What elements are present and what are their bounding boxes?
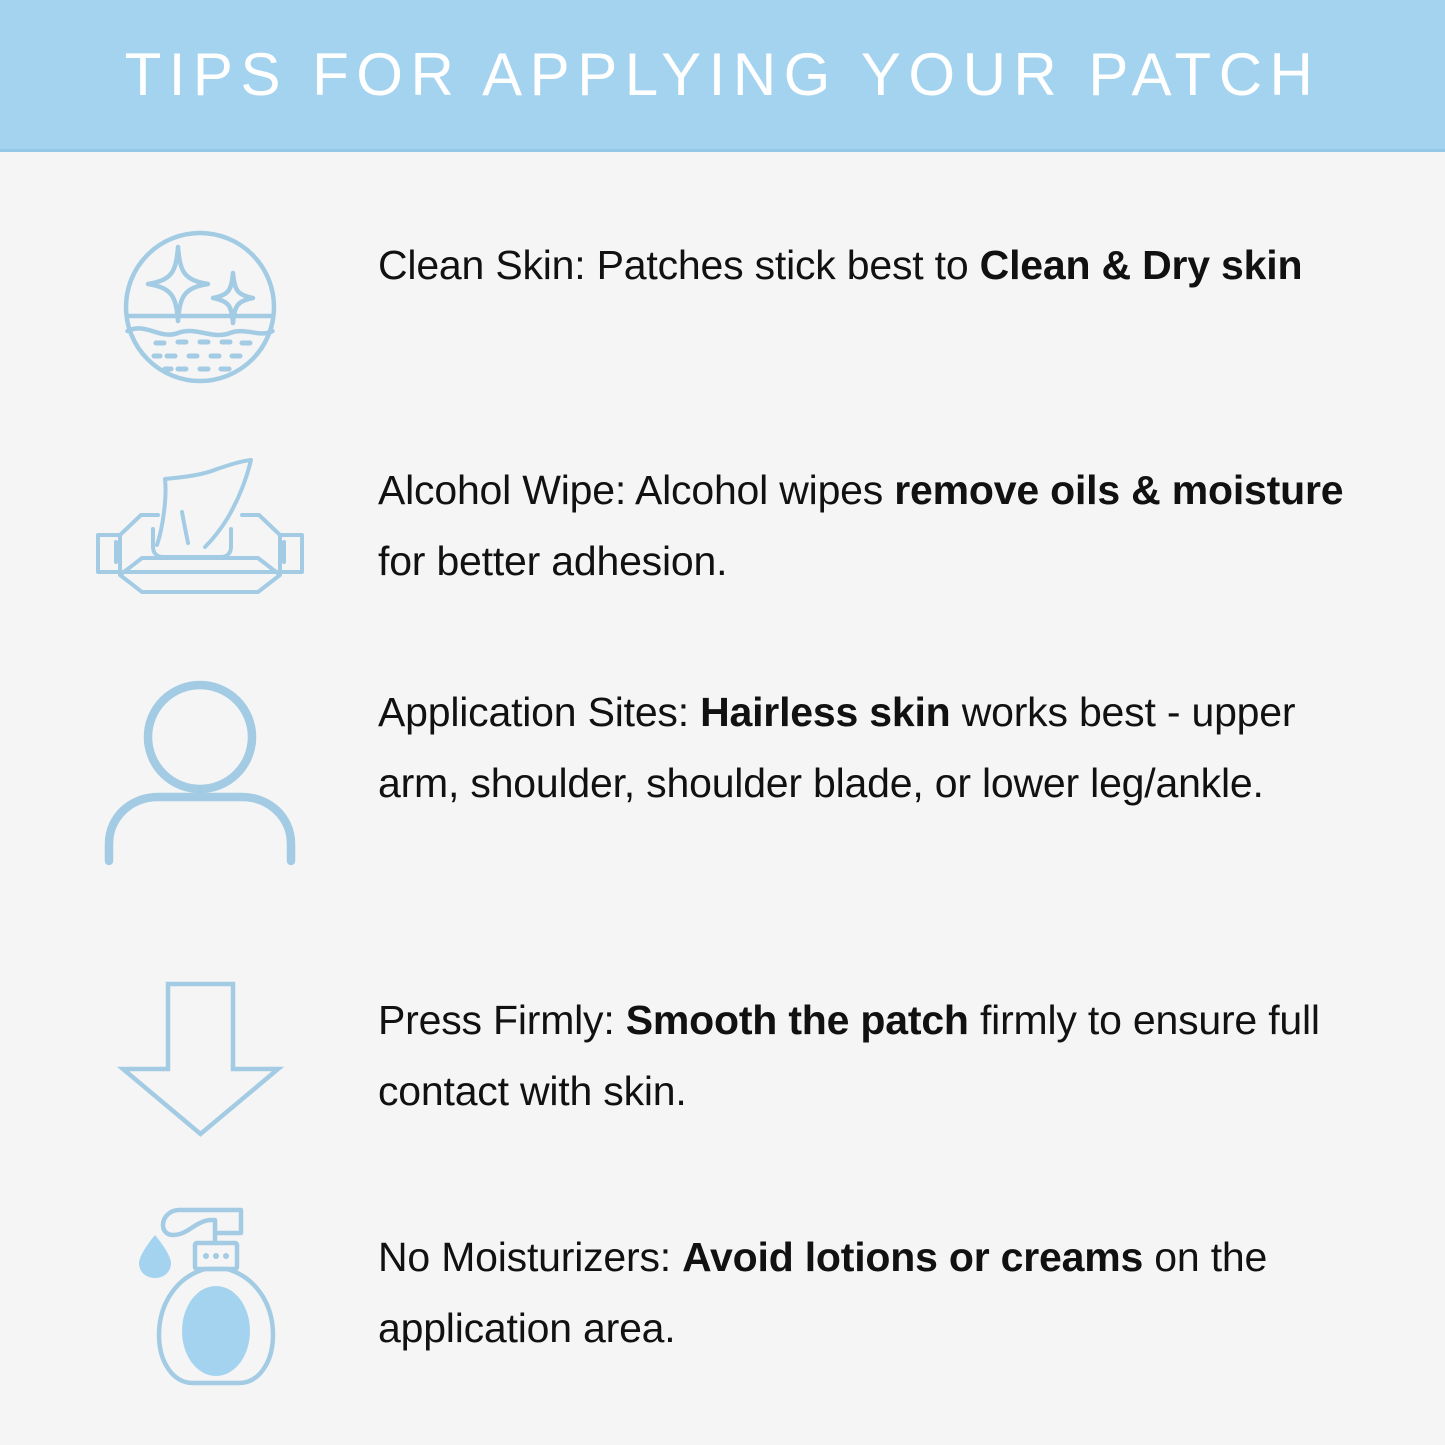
infographic-page: TIPS FOR APPLYING YOUR PATCH (0, 0, 1445, 1445)
tip-emphasis-text: remove oils & moisture (894, 467, 1343, 513)
tip-lead-text: Alcohol Wipe: Alcohol wipes (378, 467, 894, 513)
tip-text-press-firmly: Press Firmly: Smooth the patch firmly to… (378, 985, 1328, 1126)
down-arrow-icon (118, 979, 283, 1139)
tip-lead-text: Application Sites: (378, 689, 700, 735)
tip-lead-text: Clean Skin: Patches stick best to (378, 242, 980, 288)
tip-emphasis-text: Hairless skin (700, 689, 950, 735)
alcohol-wipes-package-icon (95, 457, 305, 602)
tips-list: Clean Skin: Patches stick best to Clean … (0, 152, 1445, 1445)
tip-item-press-firmly: Press Firmly: Smooth the patch firmly to… (0, 917, 1445, 1152)
tip-text-no-moisturizers: No Moisturizers: Avoid lotions or creams… (378, 1222, 1338, 1363)
tip-lead-text: No Moisturizers: (378, 1234, 682, 1280)
tip-text-clean-skin: Clean Skin: Patches stick best to Clean … (378, 230, 1338, 301)
tip-emphasis-text: Smooth the patch (626, 997, 969, 1043)
tip-item-alcohol-wipe: Alcohol Wipe: Alcohol wipes remove oils … (0, 392, 1445, 617)
tip-lead-text: Press Firmly: (378, 997, 626, 1043)
tip-text-application-sites: Application Sites: Hairless skin works b… (378, 677, 1378, 818)
clean-skin-sparkle-circle-icon (120, 230, 280, 385)
tip-item-no-moisturizers: No Moisturizers: Avoid lotions or creams… (0, 1152, 1445, 1392)
tip-emphasis-text: Clean & Dry skin (980, 242, 1303, 288)
tip-tail-text: for better adhesion. (378, 538, 727, 584)
header-banner: TIPS FOR APPLYING YOUR PATCH (0, 0, 1445, 152)
person-body-icon (103, 679, 298, 864)
lotion-pump-bottle-icon (133, 1207, 283, 1392)
tip-emphasis-text: Avoid lotions or creams (682, 1234, 1143, 1280)
page-title: TIPS FOR APPLYING YOUR PATCH (125, 45, 1321, 105)
tip-item-clean-skin: Clean Skin: Patches stick best to Clean … (0, 152, 1445, 392)
tip-item-application-sites: Application Sites: Hairless skin works b… (0, 617, 1445, 917)
tip-text-alcohol-wipe: Alcohol Wipe: Alcohol wipes remove oils … (378, 455, 1378, 596)
